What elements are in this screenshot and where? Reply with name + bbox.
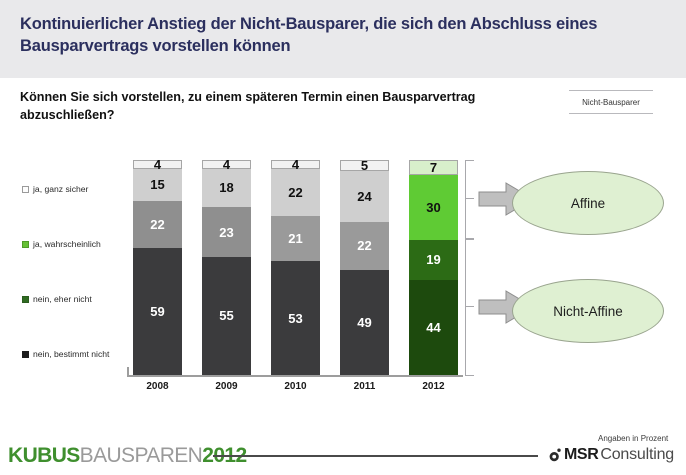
bar-segment: 21	[271, 216, 320, 261]
bar-value-label: 22	[357, 239, 371, 252]
bar-value-label: 23	[219, 226, 233, 239]
bar-value-label: 59	[150, 305, 164, 318]
chart-plot-area: 41522594182355422215352422497301944 2008…	[0, 0, 686, 475]
bar-value-label: 7	[430, 161, 437, 174]
bar-value-label: 49	[357, 316, 371, 329]
bar-2012[interactable]: 7301944	[409, 160, 458, 375]
bar-segment: 44	[409, 280, 458, 375]
bar-segment: 15	[133, 169, 182, 201]
bar-segment: 22	[340, 222, 389, 269]
x-axis-label-2008: 2008	[133, 381, 182, 392]
kubus-logo: KUBUSBAUSPAREN2012	[8, 444, 247, 468]
bar-value-label: 18	[219, 181, 233, 194]
kubus-logo-part1: KUBUS	[8, 444, 80, 467]
msr-logo-light: Consulting	[600, 446, 674, 464]
msr-mark-icon	[548, 447, 562, 463]
bar-value-label: 21	[288, 232, 302, 245]
bar-segment: 4	[202, 160, 251, 169]
bar-segment: 53	[271, 261, 320, 375]
bar-segment: 30	[409, 175, 458, 240]
x-axis-label-2009: 2009	[202, 381, 251, 392]
x-axis-label-2012: 2012	[409, 381, 458, 392]
bracket-affine	[465, 160, 474, 239]
x-axis-line	[127, 375, 463, 377]
bar-segment: 18	[202, 169, 251, 208]
bar-segment: 7	[409, 160, 458, 175]
bar-segment: 22	[133, 201, 182, 248]
callout-label-affine: Affine	[571, 196, 605, 211]
footer-divider	[213, 455, 538, 457]
bar-segment: 55	[202, 257, 251, 375]
x-axis-label-2010: 2010	[271, 381, 320, 392]
bar-segment: 24	[340, 171, 389, 223]
slide-root: Kontinuierlicher Anstieg der Nicht-Bausp…	[0, 0, 686, 475]
bar-2008[interactable]: 4152259	[133, 160, 182, 375]
bar-2011[interactable]: 5242249	[340, 160, 389, 375]
chart-note: Angaben in Prozent	[598, 434, 668, 443]
bracket-nub-nicht-affine	[465, 306, 474, 307]
bar-value-label: 24	[357, 190, 371, 203]
bar-segment: 4	[271, 160, 320, 169]
bar-value-label: 55	[219, 309, 233, 322]
msr-logo-bold: MSR	[564, 446, 598, 464]
bar-2009[interactable]: 4182355	[202, 160, 251, 375]
bar-segment: 19	[409, 240, 458, 281]
msr-logo: MSR Consulting	[548, 446, 674, 464]
bar-segment: 23	[202, 207, 251, 256]
kubus-logo-part2: BAUSPAREN	[80, 444, 203, 467]
bar-value-label: 15	[150, 178, 164, 191]
bracket-nicht-affine	[465, 239, 474, 376]
bar-value-label: 44	[426, 321, 440, 334]
callout-bubble-nicht-affine[interactable]: Nicht-Affine	[512, 279, 664, 343]
bar-segment: 4	[133, 160, 182, 169]
bracket-nub-affine	[465, 198, 474, 199]
bar-value-label: 30	[426, 201, 440, 214]
y-axis-tick	[127, 367, 129, 376]
bar-segment: 22	[271, 169, 320, 216]
callout-label-nicht-affine: Nicht-Affine	[553, 304, 623, 319]
bar-value-label: 22	[150, 218, 164, 231]
bar-segment: 59	[133, 248, 182, 375]
callout-bubble-affine[interactable]: Affine	[512, 171, 664, 235]
bar-segment: 5	[340, 160, 389, 171]
bar-segment: 49	[340, 270, 389, 375]
x-axis-label-2011: 2011	[340, 381, 389, 392]
bar-value-label: 53	[288, 312, 302, 325]
bar-value-label: 22	[288, 186, 302, 199]
bar-2010[interactable]: 4222153	[271, 160, 320, 375]
bar-value-label: 19	[426, 253, 440, 266]
